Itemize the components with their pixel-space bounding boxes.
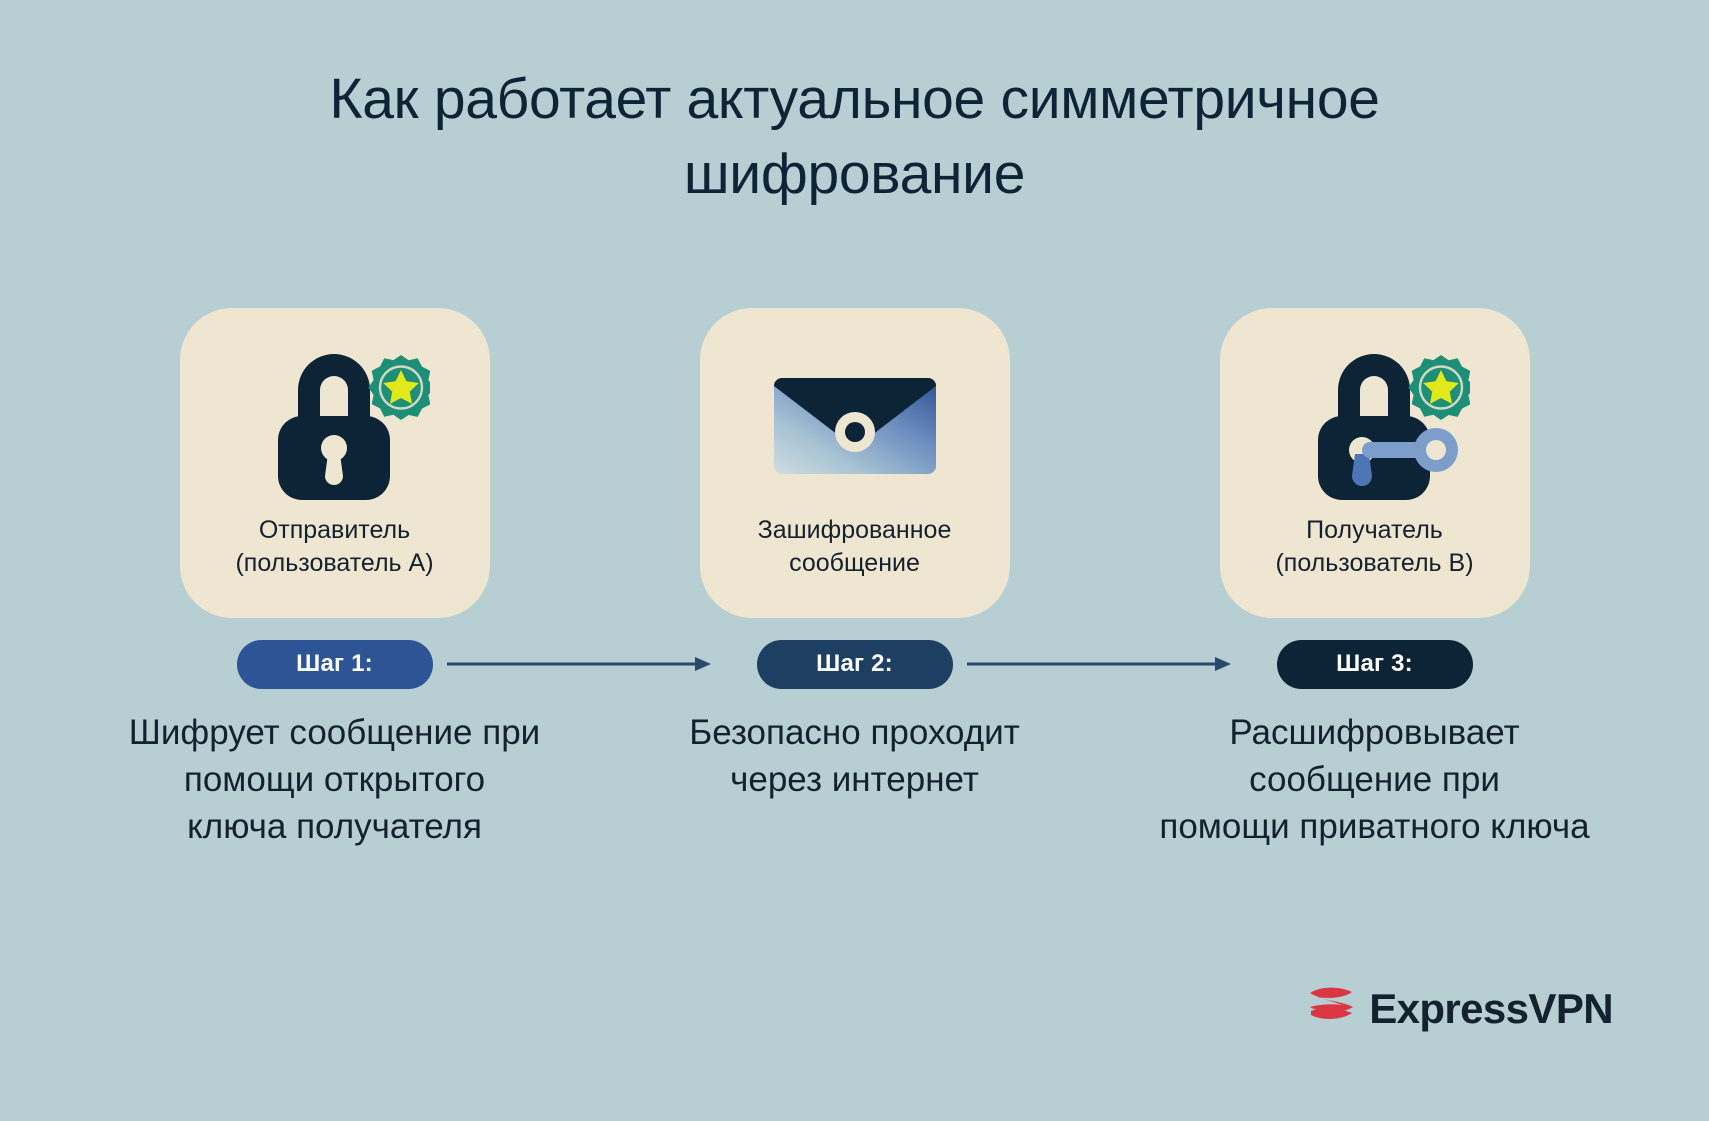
step-cell-2: Шаг 2: <box>595 636 1115 692</box>
card-recipient: Получатель (пользователь B) <box>1220 308 1530 618</box>
card-sender-label: Отправитель (пользователь A) <box>235 514 433 580</box>
step-badge-1[interactable]: Шаг 1: <box>237 640 433 689</box>
card-recipient-label: Получатель (пользователь B) <box>1275 514 1473 580</box>
captions-row: Шифрует сообщение при помощи открытого к… <box>0 710 1709 851</box>
step-caption-1: Шифрует сообщение при помощи открытого к… <box>82 710 587 851</box>
page-title: Как работает актуальное симметричное шиф… <box>0 62 1709 212</box>
card-sender: Отправитель (пользователь A) <box>180 308 490 618</box>
caption-cell-3: Расшифровывает сообщение при помощи прив… <box>1115 710 1635 851</box>
lock-with-badge-icon <box>240 342 430 502</box>
envelope-icon <box>760 342 950 502</box>
expressvpn-logo[interactable]: ExpressVPN <box>1306 984 1613 1033</box>
step-badge-3[interactable]: Шаг 3: <box>1277 640 1473 689</box>
expressvpn-wordmark: ExpressVPN <box>1369 988 1613 1030</box>
expressvpn-mark-icon <box>1306 984 1358 1033</box>
caption-cell-2: Безопасно проходит через интернет <box>595 710 1115 851</box>
step-badge-2[interactable]: Шаг 2: <box>757 640 953 689</box>
lock-with-key-and-badge-icon <box>1280 342 1470 502</box>
step-caption-3: Расшифровывает сообщение при помощи прив… <box>1122 710 1627 851</box>
step-caption-2: Безопасно проходит через интернет <box>602 710 1107 851</box>
card-encrypted-message-label: Зашифрованное сообщение <box>758 514 952 580</box>
step-cell-3: Шаг 3: <box>1115 636 1635 692</box>
card-encrypted-message: Зашифрованное сообщение <box>700 308 1010 618</box>
caption-cell-1: Шифрует сообщение при помощи открытого к… <box>75 710 595 851</box>
step-cell-1: Шаг 1: <box>75 636 595 692</box>
steps-row: Шаг 1: Шаг 2: Шаг 3: <box>0 636 1709 692</box>
